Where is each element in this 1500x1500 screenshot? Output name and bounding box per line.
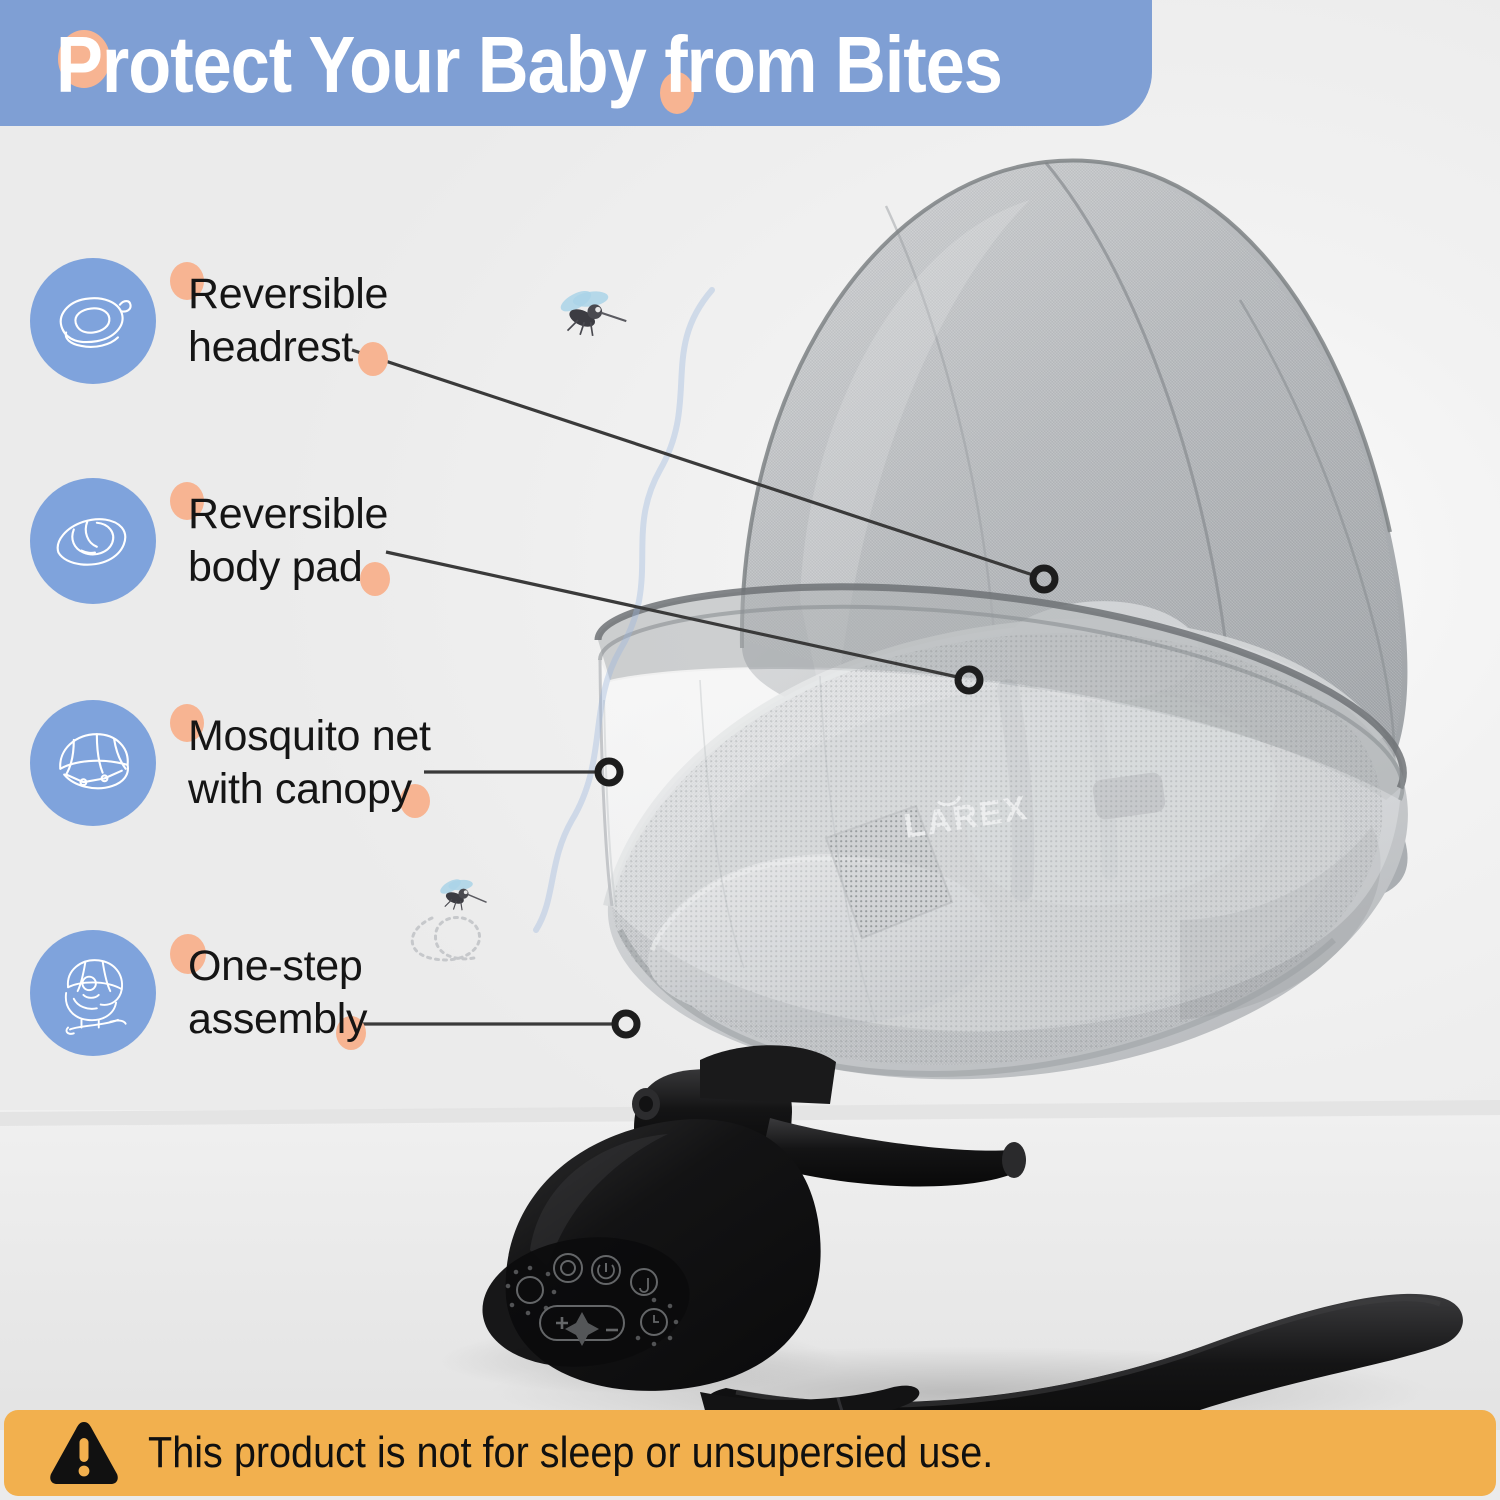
page-title: Protect Your Baby from Bites — [56, 9, 1002, 121]
warning-text: This product is not for sleep or unsuper… — [148, 1428, 993, 1478]
feature-label: Reversible body pad — [188, 488, 388, 594]
mosquito-upper — [558, 287, 627, 336]
feature-item-reversible-body-pad[interactable]: Reversible body pad — [30, 478, 388, 604]
warning-triangle-icon — [48, 1420, 120, 1486]
baby-swing-icon — [30, 930, 156, 1056]
mosquito-lower — [438, 876, 486, 910]
feature-item-one-step-assembly[interactable]: One-step assembly — [30, 930, 367, 1056]
body-pad-icon — [30, 478, 156, 604]
infographic-canvas: LAREX — [0, 0, 1500, 1500]
headrest-icon — [30, 258, 156, 384]
feature-label: Reversible headrest — [188, 268, 388, 374]
feature-label: Mosquito net with canopy — [188, 710, 431, 816]
header-banner: Protect Your Baby from Bites — [0, 0, 1152, 126]
feature-item-mosquito-net[interactable]: Mosquito net with canopy — [30, 700, 431, 826]
flight-path-lower — [412, 917, 479, 959]
mosquito-net-icon — [30, 700, 156, 826]
feature-label: One-step assembly — [188, 940, 367, 1046]
warning-banner: This product is not for sleep or unsuper… — [4, 1410, 1496, 1496]
feature-item-reversible-headrest[interactable]: Reversible headrest — [30, 258, 388, 384]
